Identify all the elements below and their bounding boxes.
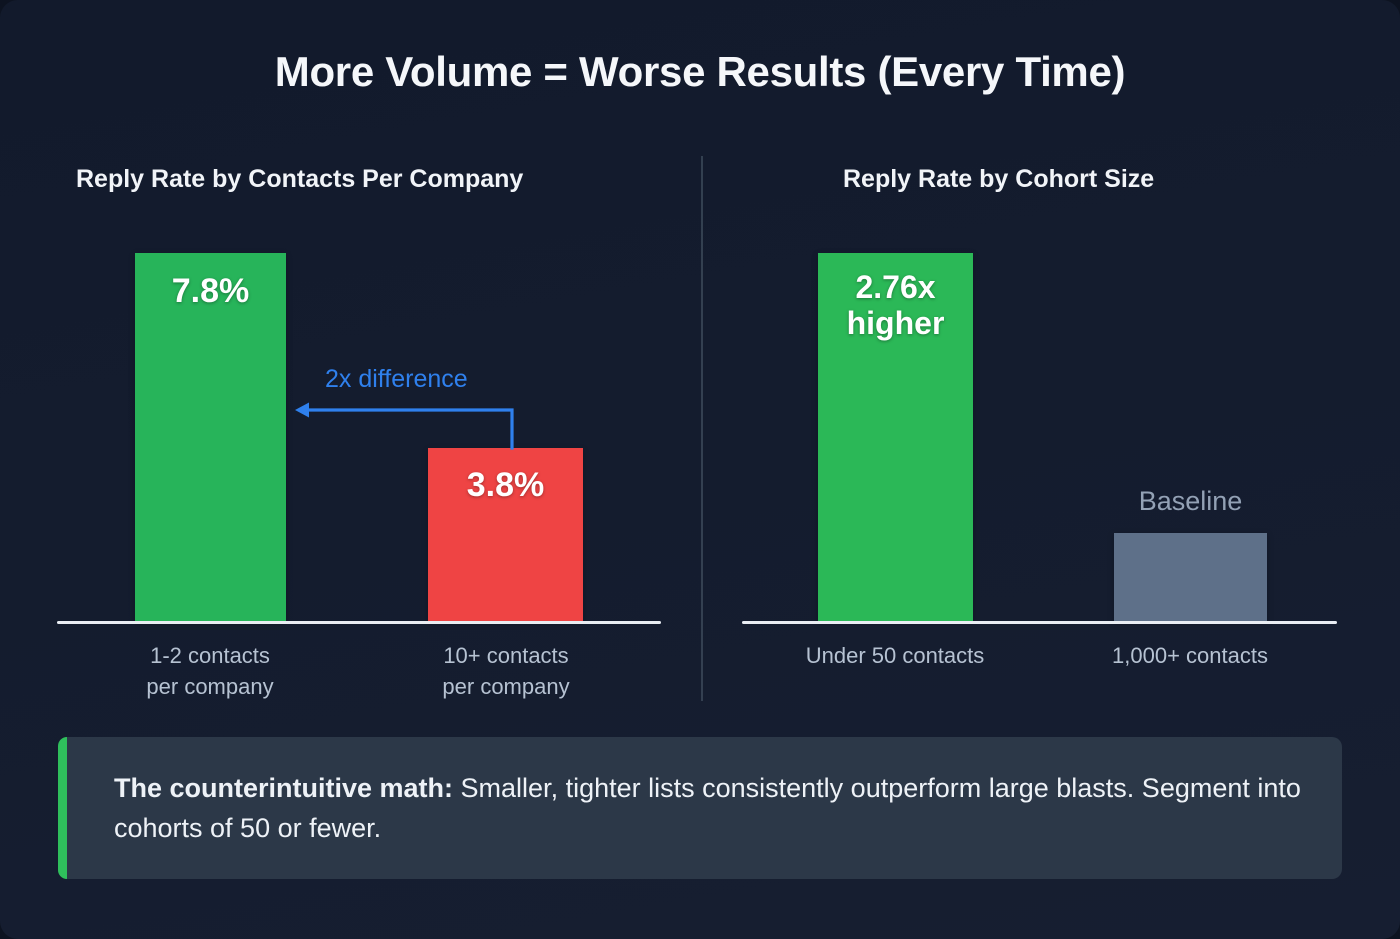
category-label-1-2-contacts: 1-2 contacts per company	[100, 640, 320, 702]
annotation-label: 2x difference	[325, 365, 468, 394]
category-label-1000-plus-contacts: 1,000+ contacts	[1075, 640, 1305, 671]
callout-box: The counterintuitive math: Smaller, tigh…	[58, 737, 1342, 879]
panel-divider	[701, 156, 703, 701]
bar-value-line-1: 2.76x	[818, 270, 973, 306]
difference-arrow-icon	[290, 398, 525, 458]
infographic-canvas: More Volume = Worse Results (Every Time)…	[0, 0, 1400, 939]
category-line-2: per company	[396, 671, 616, 702]
callout-text: The counterintuitive math: Smaller, tigh…	[114, 769, 1324, 849]
right-chart-axis	[742, 621, 1337, 624]
left-chart-axis	[57, 621, 661, 624]
bar-1000-plus-contacts	[1114, 533, 1267, 621]
category-line-1: 1-2 contacts	[100, 640, 320, 671]
category-line-1: 10+ contacts	[396, 640, 616, 671]
callout-accent-bar	[58, 737, 67, 879]
right-chart-title: Reply Rate by Cohort Size	[843, 165, 1154, 194]
bar-value-10-plus-contacts: 3.8%	[428, 466, 583, 504]
category-label-10-plus-contacts: 10+ contacts per company	[396, 640, 616, 702]
baseline-label: Baseline	[1114, 486, 1267, 517]
category-line-2: per company	[100, 671, 320, 702]
bar-value-line-2: higher	[818, 306, 973, 342]
callout-lead-text: The counterintuitive math:	[114, 773, 453, 803]
bar-value-under-50-contacts: 2.76x higher	[818, 270, 973, 342]
page-title: More Volume = Worse Results (Every Time)	[0, 48, 1400, 96]
left-chart-title: Reply Rate by Contacts Per Company	[76, 165, 523, 194]
category-label-under-50-contacts: Under 50 contacts	[780, 640, 1010, 671]
bar-value-1-2-contacts: 7.8%	[135, 272, 286, 310]
